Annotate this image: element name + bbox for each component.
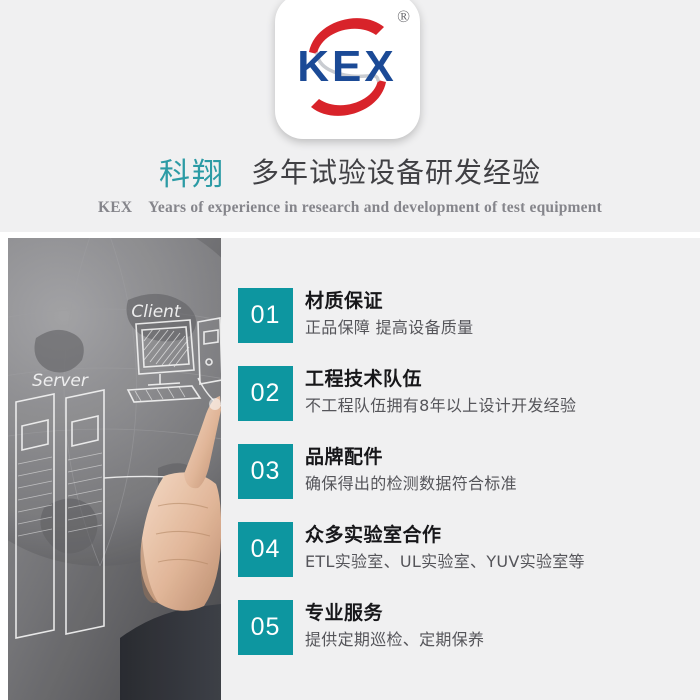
feature-desc-3: 确保得出的检测数据符合标准 <box>305 474 700 494</box>
touchscreen-network-diagram-photo: Client <box>8 238 221 700</box>
feature-title-3: 品牌配件 <box>305 446 700 470</box>
feature-text-4: 众多实验室合作 ETL实验室、UL实验室、YUV实验室等 <box>305 524 700 572</box>
feature-desc-5: 提供定期巡检、定期保养 <box>305 630 700 650</box>
feature-title-5: 专业服务 <box>305 602 700 626</box>
header-band: KEX ® 科翔 多年试验设备研发经验 KEXYears of experien… <box>0 0 700 232</box>
feature-text-2: 工程技术队伍 不工程队伍拥有8年以上设计开发经验 <box>305 368 700 416</box>
registered-trademark-icon: ® <box>397 8 410 25</box>
promo-banner-page: KEX ® 科翔 多年试验设备研发经验 KEXYears of experien… <box>0 0 700 700</box>
svg-text:KEX: KEX <box>297 42 396 91</box>
feature-title-2: 工程技术队伍 <box>305 368 700 392</box>
feature-text-1: 材质保证 正品保障 提高设备质量 <box>305 290 700 338</box>
tagline-cn: 多年试验设备研发经验 <box>251 151 541 191</box>
subline-en: KEXYears of experience in research and d… <box>98 199 602 217</box>
feature-number-2: 02 <box>238 366 293 421</box>
headline-row: 科翔 多年试验设备研发经验 <box>0 148 700 194</box>
subline-en-text: Years of experience in research and deve… <box>148 199 602 216</box>
feature-title-1: 材质保证 <box>305 290 700 314</box>
feature-text-5: 专业服务 提供定期巡检、定期保养 <box>305 602 700 650</box>
brand-logo-card: KEX ® <box>275 0 420 139</box>
feature-number-4: 04 <box>238 522 293 577</box>
feature-desc-1: 正品保障 提高设备质量 <box>305 318 700 338</box>
photo-artwork: Client <box>8 238 221 700</box>
feature-desc-2: 不工程队伍拥有8年以上设计开发经验 <box>305 396 700 416</box>
subline-row: KEXYears of experience in research and d… <box>0 199 700 217</box>
feature-desc-4: ETL实验室、UL实验室、YUV实验室等 <box>305 552 700 572</box>
feature-title-4: 众多实验室合作 <box>305 524 700 548</box>
feature-text-3: 品牌配件 确保得出的检测数据符合标准 <box>305 446 700 494</box>
brand-name-cn: 科翔 <box>159 149 225 194</box>
body-area: Client <box>0 238 700 700</box>
feature-number-1: 01 <box>238 288 293 343</box>
feature-number-3: 03 <box>238 444 293 499</box>
feature-number-5: 05 <box>238 600 293 655</box>
feature-list: 01 材质保证 正品保障 提高设备质量 02 工程技术队伍 不工程队伍拥有8年以… <box>221 238 700 700</box>
subline-kex: KEX <box>98 199 132 216</box>
